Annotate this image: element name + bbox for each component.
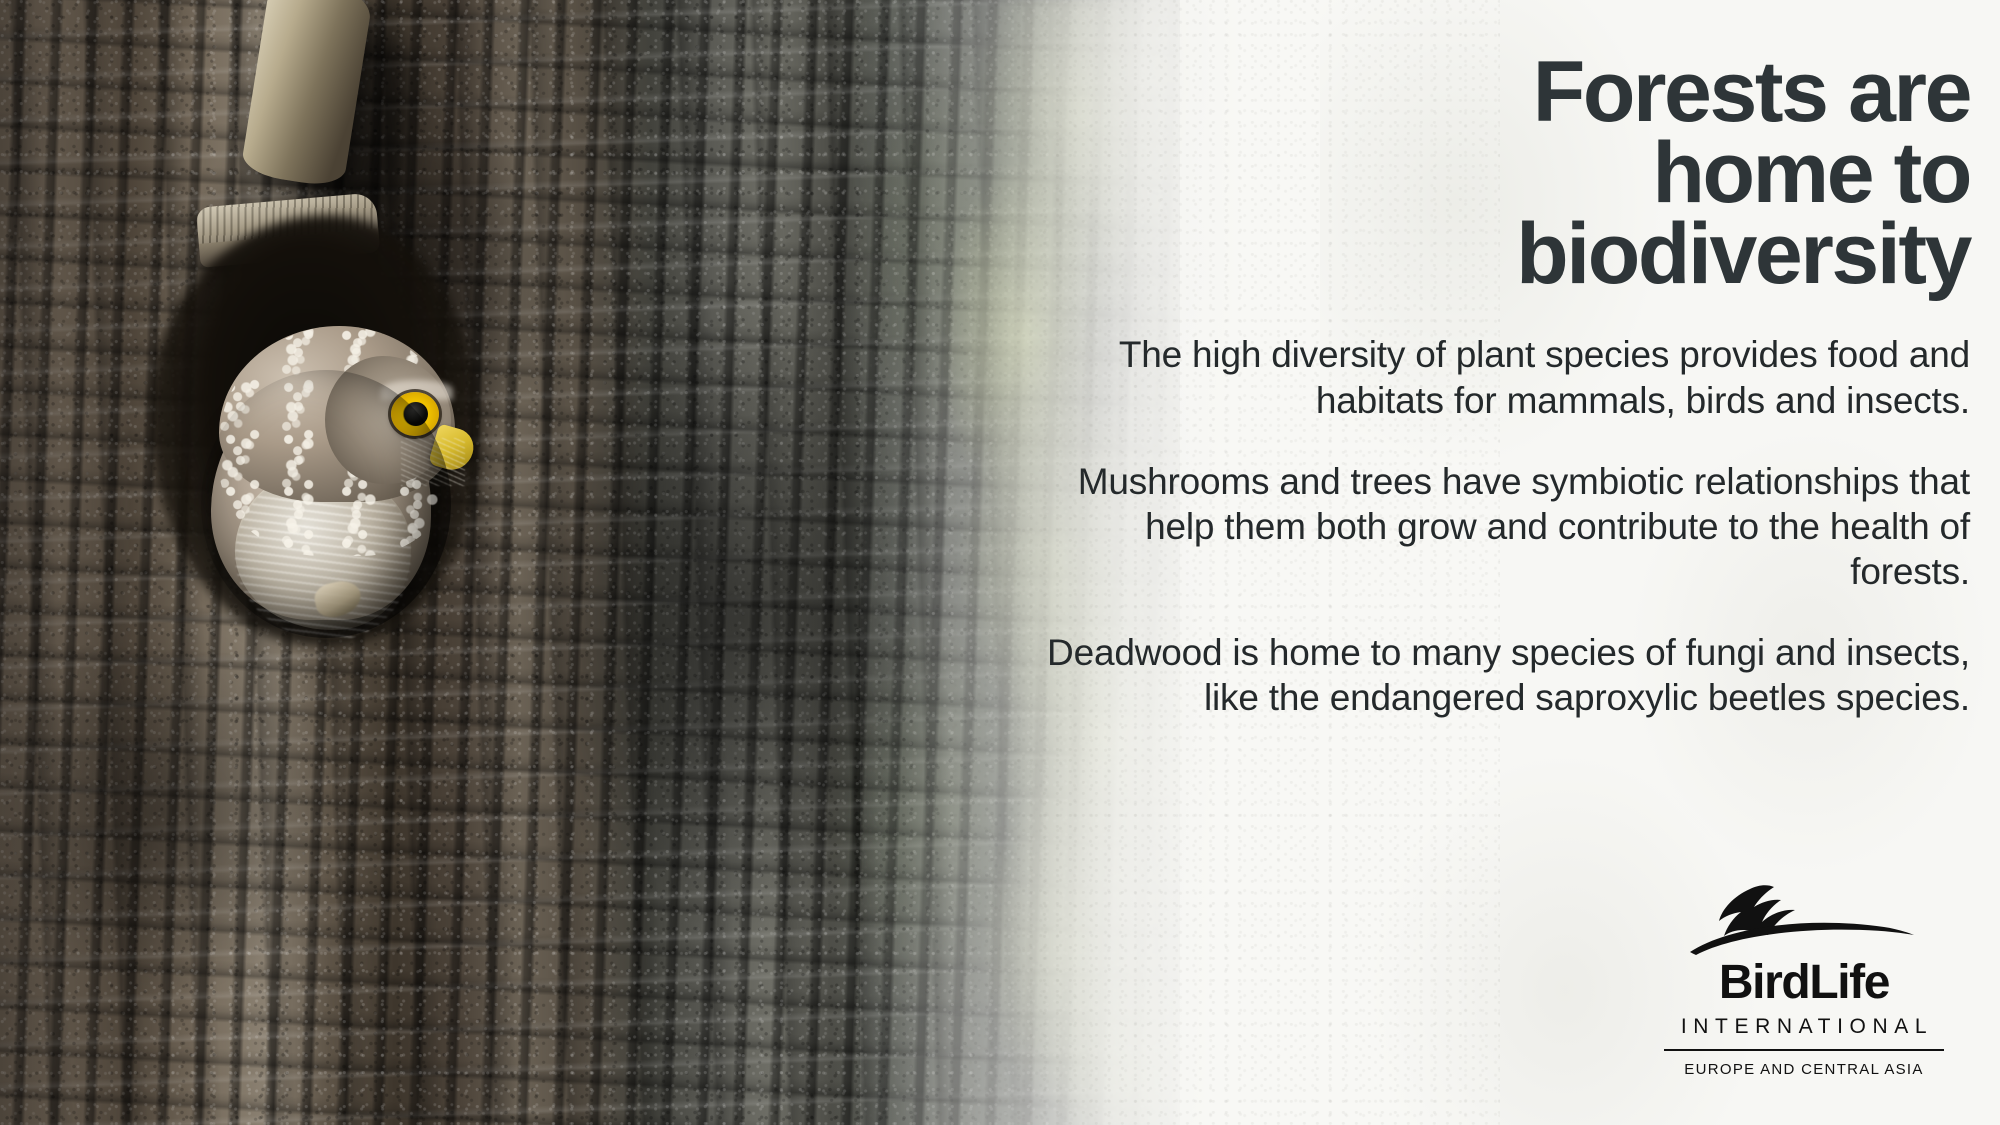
body-copy: The high diversity of plant species prov… bbox=[1030, 332, 1970, 720]
headline-line-3: biodiversity bbox=[1516, 206, 1970, 302]
logo-divider bbox=[1664, 1049, 1944, 1051]
birdlife-logo[interactable]: BirdLife INTERNATIONAL EUROPE AND CENTRA… bbox=[1664, 883, 1944, 1077]
paragraph-mushrooms-symbiosis: Mushrooms and trees have symbiotic relat… bbox=[1030, 459, 1970, 594]
little-owl bbox=[205, 320, 495, 620]
poster-canvas: Forests are home to biodiversity The hig… bbox=[0, 0, 2000, 1125]
paragraph-deadwood-species: Deadwood is home to many species of fung… bbox=[1030, 630, 1970, 720]
page-title: Forests are home to biodiversity bbox=[1030, 0, 1970, 294]
flying-bird-icon bbox=[1688, 883, 1920, 957]
logo-region: EUROPE AND CENTRAL ASIA bbox=[1664, 1062, 1944, 1077]
logo-subtitle: INTERNATIONAL bbox=[1664, 1016, 1944, 1037]
logo-wordmark: BirdLife bbox=[1664, 959, 1944, 1007]
paragraph-plant-diversity: The high diversity of plant species prov… bbox=[1030, 332, 1970, 422]
owl-facial-bristles bbox=[401, 438, 465, 486]
owl-pupil bbox=[404, 402, 428, 426]
